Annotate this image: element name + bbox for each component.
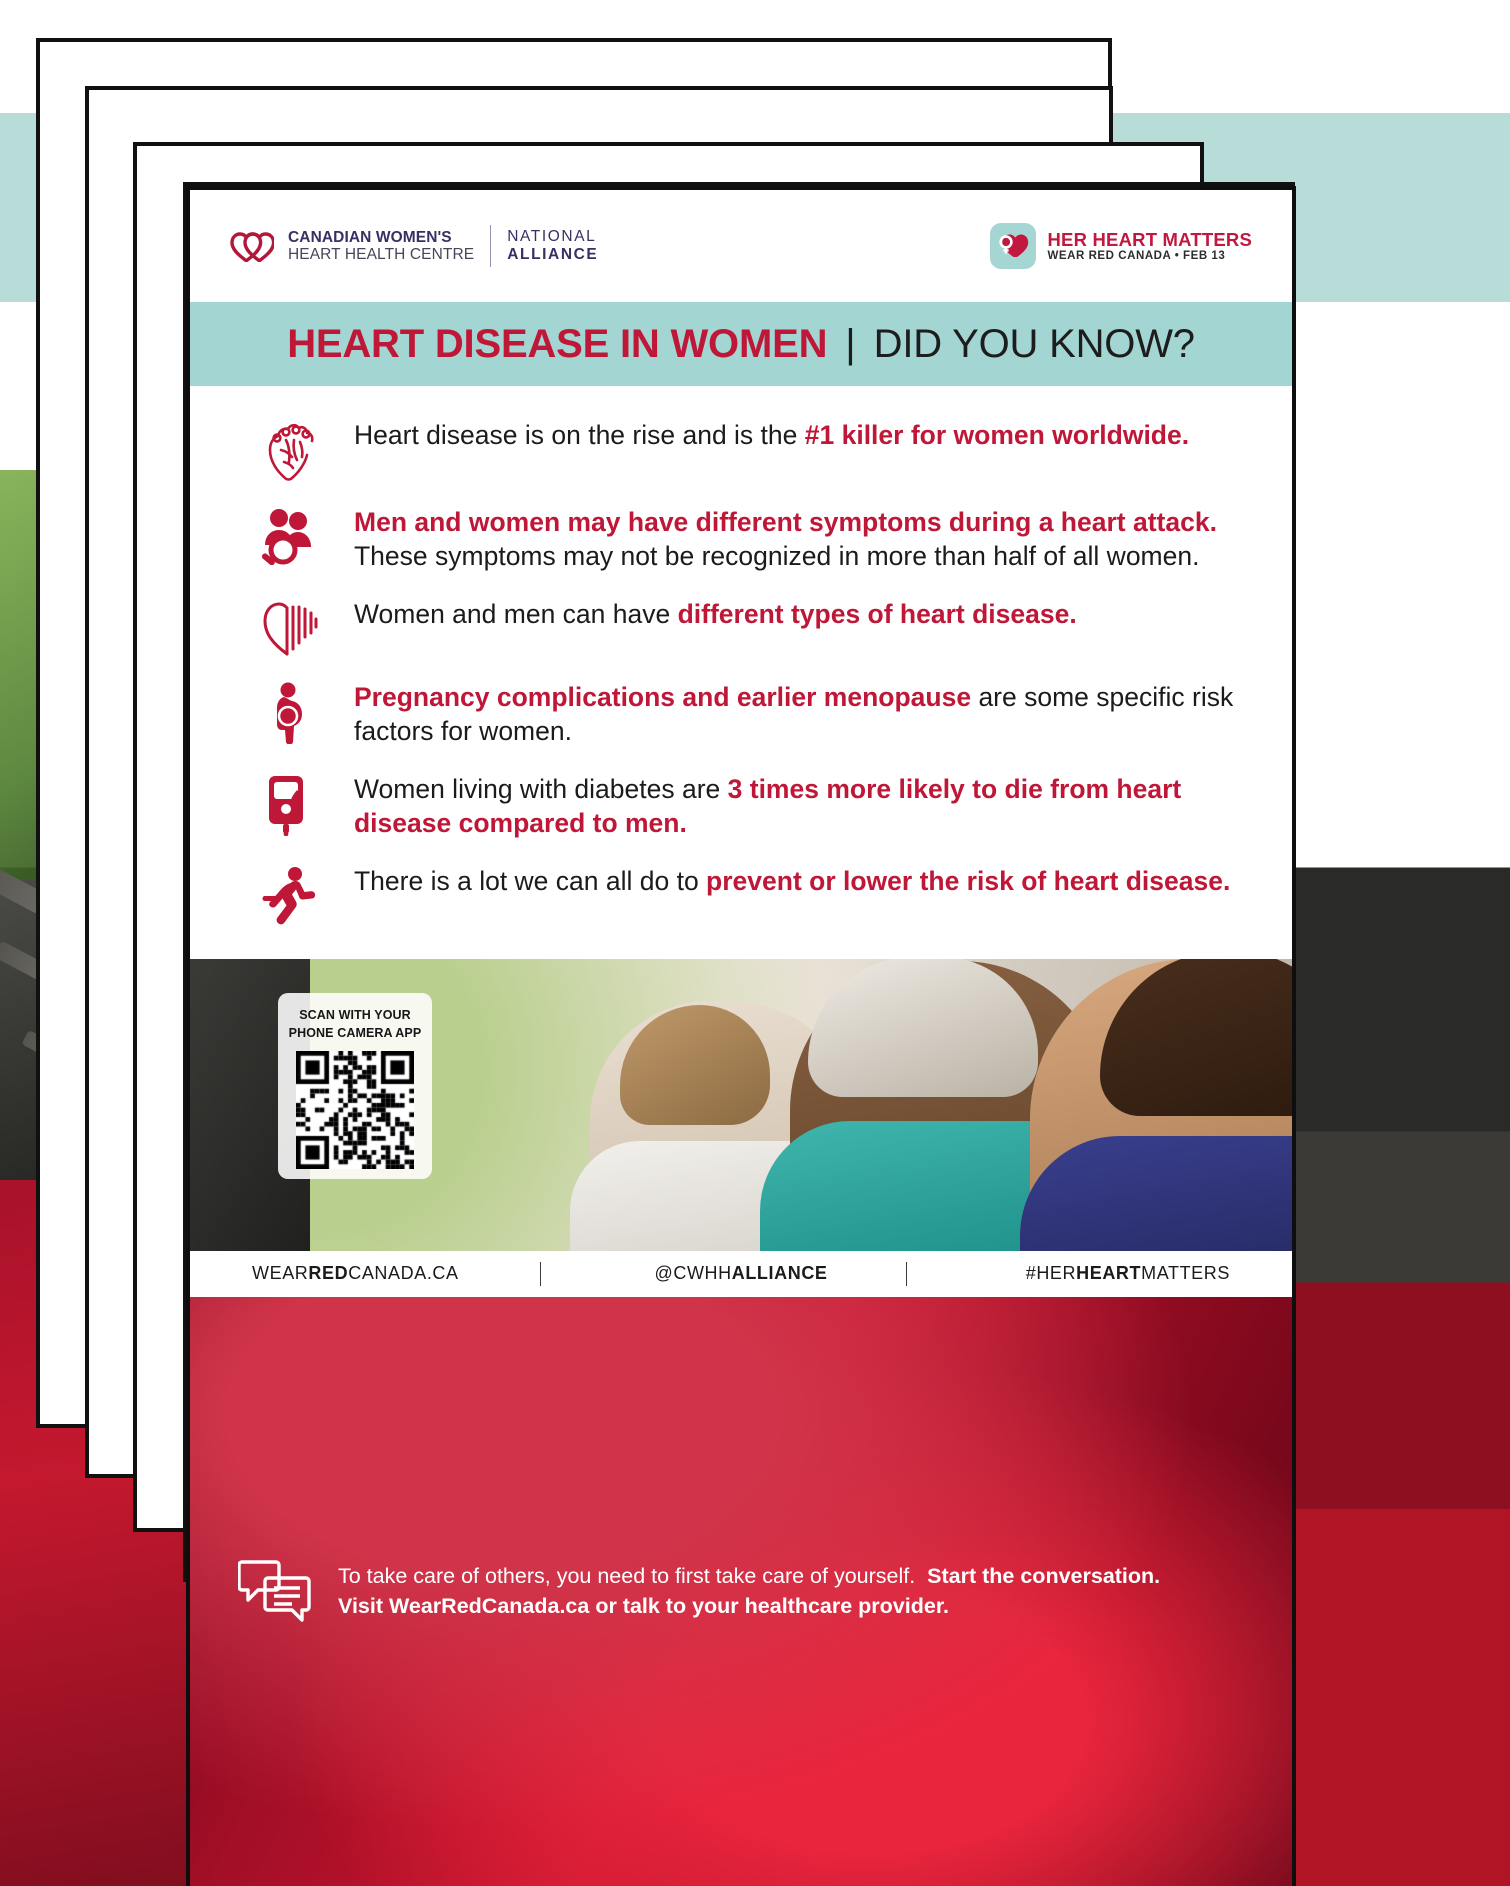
- list-item: Women living with diabetes are 3 times m…: [252, 770, 1248, 841]
- call-to-action-band: To take care of others, you need to firs…: [190, 1297, 1292, 1886]
- people-magnifier-icon: [252, 503, 328, 565]
- audience-photo: SCAN WITH YOUR PHONE CAMERA APP: [190, 959, 1292, 1251]
- title-separator: |: [845, 322, 855, 367]
- fact-text: Women living with diabetes are 3 times m…: [354, 770, 1248, 841]
- fact-list: Heart disease is on the rise and is the …: [190, 386, 1292, 959]
- cta-message: To take care of others, you need to firs…: [338, 1561, 1160, 1622]
- fact-text: There is a lot we can all do to prevent …: [354, 862, 1230, 898]
- poster-header: CANADIAN WOMEN'S HEART HEALTH CENTRE NAT…: [190, 190, 1292, 302]
- page-title-red: HEART DISEASE IN WOMEN: [287, 322, 827, 367]
- list-item: Women and men can have different types o…: [252, 595, 1248, 657]
- glucometer-icon: [252, 770, 328, 836]
- interlocking-hearts-icon: [230, 230, 274, 262]
- fact-text: Heart disease is on the rise and is the …: [354, 416, 1189, 452]
- hhm-subtitle: WEAR RED CANADA • FEB 13: [1048, 250, 1253, 263]
- social-separator-2: [906, 1262, 907, 1286]
- social-footer-bar: WEARREDCANADA.CA @CWHHALLIANCE #HERHEART…: [190, 1251, 1292, 1297]
- fact-text: Men and women may have different symptom…: [354, 503, 1248, 574]
- website-link[interactable]: WEARREDCANADA.CA: [252, 1263, 459, 1284]
- cwhhc-logo-line2: HEART HEALTH CENTRE: [288, 246, 474, 263]
- cwhhc-logo-line1: CANADIAN WOMEN'S: [288, 229, 474, 246]
- hhm-title: HER HEART MATTERS: [1048, 229, 1253, 250]
- list-item: Pregnancy complications and earlier meno…: [252, 678, 1248, 749]
- social-hashtag[interactable]: #HERHEARTMATTERS: [1026, 1263, 1230, 1284]
- anatomical-heart-icon: [252, 416, 328, 482]
- title-band: HEART DISEASE IN WOMEN | DID YOU KNOW?: [190, 302, 1292, 386]
- fact-text: Pregnancy complications and earlier meno…: [354, 678, 1248, 749]
- qr-label-line1: SCAN WITH YOUR: [299, 1006, 411, 1024]
- list-item: Men and women may have different symptom…: [252, 503, 1248, 574]
- page-title-dark: DID YOU KNOW?: [874, 322, 1195, 367]
- list-item: Heart disease is on the rise and is the …: [252, 416, 1248, 482]
- venus-heart-icon: [990, 223, 1036, 269]
- qr-card[interactable]: SCAN WITH YOUR PHONE CAMERA APP: [278, 993, 432, 1179]
- qr-label-line2: PHONE CAMERA APP: [289, 1024, 422, 1042]
- striped-heart-icon: [252, 595, 328, 657]
- qr-code[interactable]: [296, 1051, 414, 1169]
- logo-divider: [490, 225, 491, 267]
- national-alliance-line2: ALLIANCE: [507, 246, 598, 264]
- pregnant-woman-icon: [252, 678, 328, 744]
- her-heart-matters-logo: HER HEART MATTERS WEAR RED CANADA • FEB …: [990, 223, 1253, 269]
- front-poster: CANADIAN WOMEN'S HEART HEALTH CENTRE NAT…: [186, 186, 1296, 1886]
- list-item: There is a lot we can all do to prevent …: [252, 862, 1248, 928]
- cwhhc-logo: CANADIAN WOMEN'S HEART HEALTH CENTRE NAT…: [230, 225, 598, 267]
- social-handle[interactable]: @CWHHALLIANCE: [654, 1263, 827, 1284]
- social-separator-1: [540, 1262, 541, 1286]
- speech-bubbles-icon: [238, 1556, 312, 1627]
- national-alliance-line1: NATIONAL: [507, 228, 598, 246]
- poster-stack-scene: CANADIAN WOMEN'S HEART HEALTH CENTRE NAT…: [0, 0, 1510, 1886]
- running-woman-icon: [252, 862, 328, 928]
- fact-text: Women and men can have different types o…: [354, 595, 1077, 631]
